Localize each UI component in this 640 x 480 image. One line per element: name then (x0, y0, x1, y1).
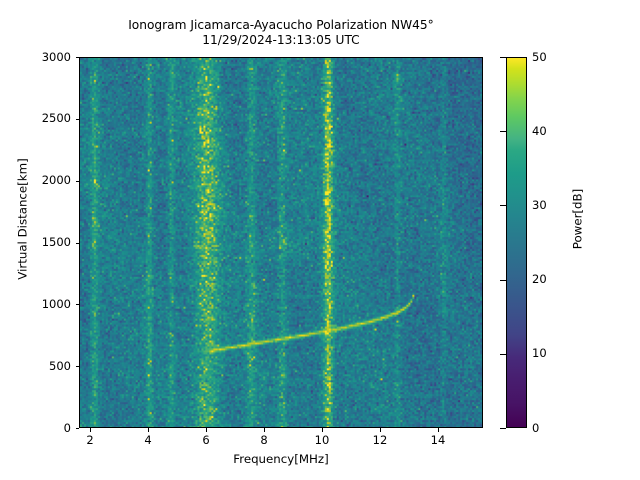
ytick-mark-500 (76, 366, 80, 367)
y-axis-label: Virtual Distance[km] (16, 34, 30, 405)
ionogram-plot-area[interactable] (79, 57, 483, 428)
xtick-mark-12 (380, 428, 381, 432)
figure-title: Ionogram Jicamarca-Ayacucho Polarization… (0, 18, 562, 48)
ytick-mark-3000 (76, 57, 80, 58)
cbar-tick-mark-50 (500, 57, 507, 58)
xtick-label-12: 12 (360, 433, 400, 447)
xtick-label-4: 4 (128, 433, 168, 447)
ytick-mark-2000 (76, 181, 80, 182)
cbar-tick-mark-10 (500, 354, 507, 355)
power-colorbar[interactable] (506, 57, 527, 428)
xtick-mark-4 (148, 428, 149, 432)
ytick-mark-0 (76, 428, 80, 429)
ytick-mark-1000 (76, 304, 80, 305)
cbar-tick-mark-20 (500, 280, 507, 281)
xtick-mark-10 (322, 428, 323, 432)
cbar-tick-mark-0 (500, 428, 507, 429)
ytick-mark-2500 (76, 119, 80, 120)
cbar-tick-mark-40 (500, 131, 507, 132)
ytick-mark-1500 (76, 243, 80, 244)
xtick-mark-6 (206, 428, 207, 432)
xtick-mark-14 (438, 428, 439, 432)
xtick-mark-8 (264, 428, 265, 432)
colorbar-label: Power[dB] (571, 34, 585, 405)
cbar-tick-label-30: 30 (532, 198, 547, 212)
xtick-label-8: 8 (244, 433, 284, 447)
cbar-tick-label-0: 0 (532, 421, 539, 435)
x-axis-label: Frequency[MHz] (79, 452, 483, 466)
xtick-mark-2 (90, 428, 91, 432)
ionogram-heatmap-canvas (80, 58, 482, 427)
ionogram-figure: Ionogram Jicamarca-Ayacucho Polarization… (0, 0, 640, 480)
ytick-label-0: 0 (17, 421, 71, 435)
cbar-tick-label-40: 40 (532, 124, 547, 138)
xtick-label-6: 6 (186, 433, 226, 447)
xtick-label-10: 10 (302, 433, 342, 447)
cbar-tick-label-10: 10 (532, 346, 547, 360)
xtick-label-14: 14 (418, 433, 458, 447)
xtick-label-2: 2 (70, 433, 110, 447)
cbar-tick-mark-30 (500, 205, 507, 206)
cbar-tick-label-20: 20 (532, 272, 547, 286)
cbar-tick-label-50: 50 (532, 50, 547, 64)
